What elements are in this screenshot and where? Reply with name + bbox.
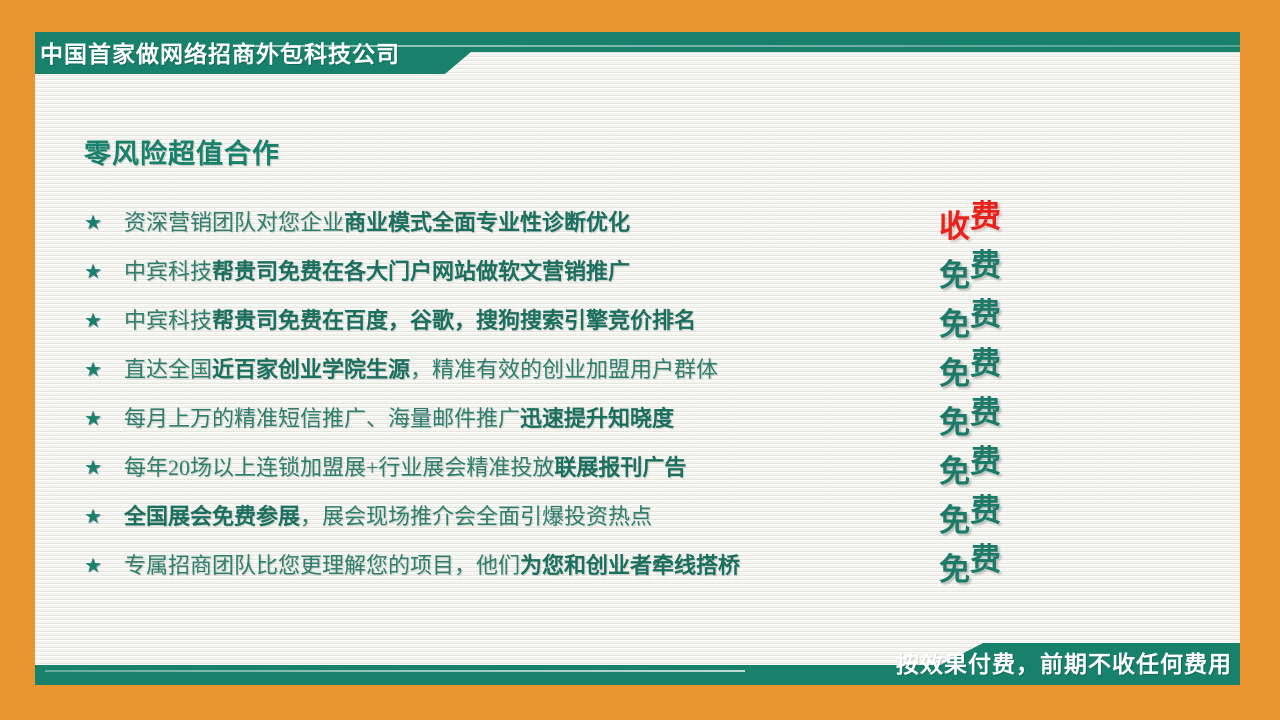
list-item-text-emphasis: 近百家创业学院生源 — [212, 357, 410, 382]
price-badge-char-2: 费 — [970, 240, 1001, 285]
star-icon: ★ — [84, 311, 124, 331]
price-badge-char-1: 免 — [939, 348, 970, 393]
price-badge-char-2: 费 — [970, 338, 1001, 383]
price-badge: 免费 — [939, 245, 1059, 293]
star-icon: ★ — [84, 458, 124, 478]
list-item: ★专属招商团队比您更理解您的项目，他们为您和创业者牵线搭桥免费 — [84, 541, 1084, 590]
slide-root: 中国首家做网络招商外包科技公司 零风险超值合作 ★资深营销团队对您企业商业模式全… — [0, 0, 1280, 720]
list-item-text-plain: 直达全国 — [124, 357, 212, 382]
star-icon: ★ — [84, 360, 124, 380]
star-icon: ★ — [84, 409, 124, 429]
list-item-text-plain: 中宾科技 — [124, 308, 212, 333]
price-badge: 免费 — [939, 392, 1059, 440]
price-badge-char-1: 免 — [939, 250, 970, 295]
list-item-text-plain: 专属招商团队比您更理解您的项目，他们 — [124, 553, 520, 578]
price-badge: 免费 — [939, 539, 1059, 587]
list-item-text-emphasis: 迅速提升知晓度 — [520, 406, 674, 431]
list-item-text-plain: 每年20场以上连锁加盟展+行业展会精准投放 — [124, 455, 554, 480]
list-item-text-emphasis: 帮贵司免费在百度，谷歌，搜狗搜索引擎竞价排名 — [212, 308, 696, 333]
list-item-text-plain: 资深营销团队对您企业 — [124, 210, 344, 235]
price-badge-char-2: 费 — [970, 436, 1001, 481]
list-item: ★中宾科技帮贵司免费在各大门户网站做软文营销推广免费 — [84, 247, 1084, 296]
list-item-text-emphasis: 全国展会免费参展 — [124, 504, 300, 529]
price-badge-char-1: 免 — [939, 544, 970, 589]
list-item: ★资深营销团队对您企业商业模式全面专业性诊断优化收费 — [84, 198, 1084, 247]
price-badge: 收费 — [939, 196, 1059, 244]
list-item-text-emphasis: 为您和创业者牵线搭桥 — [520, 553, 740, 578]
list-item-text-tail: ，展会现场推介会全面引爆投资热点 — [300, 504, 652, 529]
list-item-text-plain: 每月上万的精准短信推广、海量邮件推广 — [124, 406, 520, 431]
price-badge-char-2: 费 — [970, 534, 1001, 579]
price-badge-char-1: 免 — [939, 495, 970, 540]
list-item-text-emphasis: 商业模式全面专业性诊断优化 — [344, 210, 630, 235]
footer-title: 按效果付费，前期不收任何费用 — [896, 648, 1232, 680]
price-badge-char-2: 费 — [970, 289, 1001, 334]
star-icon: ★ — [84, 213, 124, 233]
list-item: ★每月上万的精准短信推广、海量邮件推广迅速提升知晓度免费 — [84, 394, 1084, 443]
footer-hairline — [45, 670, 745, 672]
list-item-text-emphasis: 联展报刊广告 — [554, 455, 686, 480]
star-icon: ★ — [84, 262, 124, 282]
header-title: 中国首家做网络招商外包科技公司 — [40, 38, 560, 70]
benefit-list: ★资深营销团队对您企业商业模式全面专业性诊断优化收费★中宾科技帮贵司免费在各大门… — [84, 198, 1084, 590]
price-badge-char-1: 免 — [939, 446, 970, 491]
list-item: ★中宾科技帮贵司免费在百度，谷歌，搜狗搜索引擎竞价排名免费 — [84, 296, 1084, 345]
price-badge: 免费 — [939, 343, 1059, 391]
star-icon: ★ — [84, 507, 124, 527]
price-badge-char-2: 费 — [970, 387, 1001, 432]
price-badge: 免费 — [939, 294, 1059, 342]
list-item-text-plain: 中宾科技 — [124, 259, 212, 284]
price-badge-char-1: 免 — [939, 397, 970, 442]
list-item-text-emphasis: 帮贵司免费在各大门户网站做软文营销推广 — [212, 259, 630, 284]
price-badge-char-1: 收 — [939, 201, 970, 246]
list-item: ★直达全国近百家创业学院生源，精准有效的创业加盟用户群体免费 — [84, 345, 1084, 394]
price-badge-char-2: 费 — [970, 485, 1001, 530]
list-item: ★每年20场以上连锁加盟展+行业展会精准投放联展报刊广告免费 — [84, 443, 1084, 492]
price-badge-char-1: 免 — [939, 299, 970, 344]
price-badge: 免费 — [939, 490, 1059, 538]
list-item: ★全国展会免费参展，展会现场推介会全面引爆投资热点免费 — [84, 492, 1084, 541]
price-badge: 免费 — [939, 441, 1059, 489]
star-icon: ★ — [84, 556, 124, 576]
list-item-text-tail: ，精准有效的创业加盟用户群体 — [410, 357, 718, 382]
page-title: 零风险超值合作 — [84, 132, 280, 171]
price-badge-char-2: 费 — [970, 191, 1001, 236]
